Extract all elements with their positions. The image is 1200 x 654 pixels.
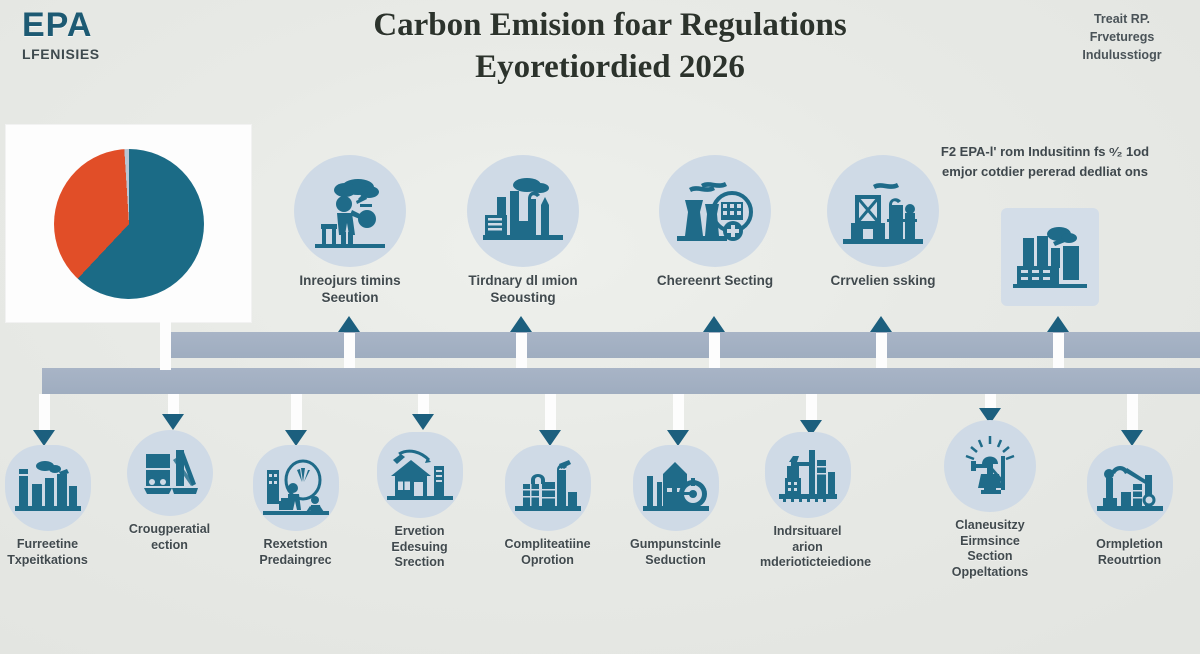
bottom-node-7-label-l1: Indrsituarel arion [773, 524, 841, 554]
down-arrow-5 [539, 430, 561, 446]
up-stem-5 [1053, 333, 1064, 368]
up-stem-3 [709, 333, 720, 368]
corner-note: Treait RP. Frveturegs Indulusstiogr [1062, 10, 1182, 64]
bottom-node-8-label-l2: Eirmsince Section [960, 534, 1020, 564]
up-stem-2 [516, 333, 527, 368]
factory-gauge-icon [633, 445, 719, 531]
top-node-2-label: Tirdnary dl ımion Seousting [458, 273, 588, 307]
bottom-node-7-label: Indrsituarel arion mderioticteiedione [760, 524, 855, 571]
bottom-node-4-label: Ervetion Edesuing Srection [372, 524, 467, 571]
top-node-1[interactable]: Inreojurs timins Seeution [285, 155, 415, 307]
down-stem-5 [545, 394, 556, 434]
industrial-plant-icon [1001, 208, 1099, 306]
pie-connector-stem [160, 300, 171, 370]
factory-chimneys-icon [467, 155, 579, 267]
up-arrow-2 [510, 316, 532, 332]
top-node-3-label: Chereenrt Secting [650, 273, 780, 290]
top-node-2[interactable]: Tirdnary dl ımion Seousting [458, 155, 588, 307]
bottom-node-1-label-l2: Txpeitkations [7, 553, 88, 567]
top-node-1-label-l2: Seeution [321, 290, 378, 305]
bottom-node-5-label: Compliteatiine Oprotion [500, 537, 595, 568]
top-node-3-label-l1: Chereenrt Secting [657, 273, 773, 288]
brand-block: EPA LFENISIES [22, 8, 100, 62]
up-stem-4 [876, 333, 887, 368]
bottom-node-9[interactable]: Ormpletion Reoutrtion [1082, 445, 1177, 568]
bottom-node-8[interactable]: Claneusitzy Eirmsince Section Oppeltatio… [940, 420, 1040, 581]
house-checkmark-icon [377, 432, 463, 518]
brand-subtitle: LFENISIES [22, 46, 100, 62]
bottom-node-5-label-l1: Compliteatiine [504, 537, 590, 551]
down-arrow-4 [412, 414, 434, 430]
pipeline-refinery-icon [1087, 445, 1173, 531]
bottom-node-8-label-l3: Oppeltations [952, 565, 1028, 579]
top-node-2-label-l2: Seousting [490, 290, 555, 305]
down-stem-6 [673, 394, 684, 434]
bottom-node-1-label-l1: Furreetine [17, 537, 78, 551]
page-title: Carbon Emision foar Regulations Eyoretio… [300, 4, 920, 88]
side-note: F2 EPA-l' rom Indusitinn fs ᵒ⁄₂ 1od emjo… [910, 142, 1180, 181]
bottom-node-1-label: Furreetine Txpeitkations [0, 537, 95, 568]
side-note-line-2: emjor cotdier pererad dedliat ons [942, 164, 1148, 179]
bottom-node-2-label: Crougperatial ection [122, 522, 217, 553]
bottom-node-7[interactable]: Indrsituarel arion mderioticteiedione [760, 432, 855, 571]
bottom-node-6-label-l1: Gumpunstcinle [630, 537, 721, 551]
bottom-node-6[interactable]: Gumpunstcinle Seduction [628, 445, 723, 568]
side-note-line-1: F2 EPA-l' rom Indusitinn fs ᵒ⁄₂ 1od [941, 144, 1149, 159]
connector-bar-bottom [42, 368, 1200, 394]
up-arrow-5 [1047, 316, 1069, 332]
down-stem-3 [291, 394, 302, 434]
top-node-2-label-l1: Tirdnary dl ımion [468, 273, 577, 288]
pie-chart-panel [5, 124, 252, 323]
top-node-4-label: Crrvelien ssking [818, 273, 948, 290]
bottom-node-2-label-l2: ection [151, 538, 188, 552]
up-stem-1 [344, 333, 355, 368]
down-arrow-1 [33, 430, 55, 446]
bottom-node-8-label-l1: Claneusitzy [955, 518, 1024, 532]
bottom-node-4-label-l1: Ervetion [394, 524, 444, 538]
top-node-1-label: Inreojurs timins Seeution [285, 273, 415, 307]
bottom-node-3[interactable]: Rexetstion Predaingrec [248, 445, 343, 568]
connector-bar-top [170, 332, 1200, 358]
bottom-node-9-label-l1: Ormpletion [1096, 537, 1163, 551]
up-arrow-4 [870, 316, 892, 332]
energy-burner-icon [944, 420, 1036, 512]
up-arrow-3 [703, 316, 725, 332]
up-arrow-1 [338, 316, 360, 332]
down-arrow-6 [667, 430, 689, 446]
bottom-node-2-label-l1: Crougperatial [129, 522, 210, 536]
down-arrow-9 [1121, 430, 1143, 446]
top-node-4-label-l1: Crrvelien ssking [830, 273, 935, 288]
pie-chart [54, 149, 204, 299]
mining-excavator-icon [127, 430, 213, 516]
bottom-node-2[interactable]: Crougperatial ection [122, 430, 217, 553]
title-line-1: Carbon Emision foar Regulations [373, 7, 846, 43]
top-node-3[interactable]: Chereenrt Secting [650, 155, 780, 290]
chemical-plant-icon [505, 445, 591, 531]
brand-name: EPA [22, 8, 100, 42]
infographic-canvas: EPA LFENISIES Carbon Emision foar Regula… [0, 0, 1200, 654]
bottom-node-1[interactable]: Furreetine Txpeitkations [0, 445, 95, 568]
bottom-node-9-label-l2: Reoutrtion [1098, 553, 1161, 567]
bottom-node-9-label: Ormpletion Reoutrtion [1082, 537, 1177, 568]
top-node-1-label-l1: Inreojurs timins [299, 273, 400, 288]
bottom-node-3-label-l2: Predaingrec [259, 553, 331, 567]
down-stem-1 [39, 394, 50, 434]
bottom-node-4[interactable]: Ervetion Edesuing Srection [372, 432, 467, 571]
title-line-2: Eyoretiordied 2026 [300, 46, 920, 88]
bottom-node-5[interactable]: Compliteatiine Oprotion [500, 445, 595, 568]
down-arrow-2 [162, 414, 184, 430]
bottom-node-3-label: Rexetstion Predaingrec [248, 537, 343, 568]
industrial-crane-icon [765, 432, 851, 518]
down-arrow-3 [285, 430, 307, 446]
bottom-node-7-label-l2: mderioticteiedione [760, 555, 871, 569]
down-stem-9 [1127, 394, 1138, 434]
bottom-node-3-label-l1: Rexetstion [264, 537, 328, 551]
smokestack-worker-icon [294, 155, 406, 267]
worker-turbine-icon [253, 445, 339, 531]
bottom-node-6-label-l2: Seduction [645, 553, 705, 567]
bottom-node-8-label: Claneusitzy Eirmsince Section Oppeltatio… [940, 518, 1040, 581]
cooling-tower-search-icon [659, 155, 771, 267]
bottom-node-6-label: Gumpunstcinle Seduction [628, 537, 723, 568]
bottom-node-5-label-l2: Oprotion [521, 553, 574, 567]
top-node-5[interactable] [990, 208, 1110, 306]
refinery-stacks-icon [5, 445, 91, 531]
bottom-node-4-label-l2: Edesuing Srection [391, 540, 447, 570]
